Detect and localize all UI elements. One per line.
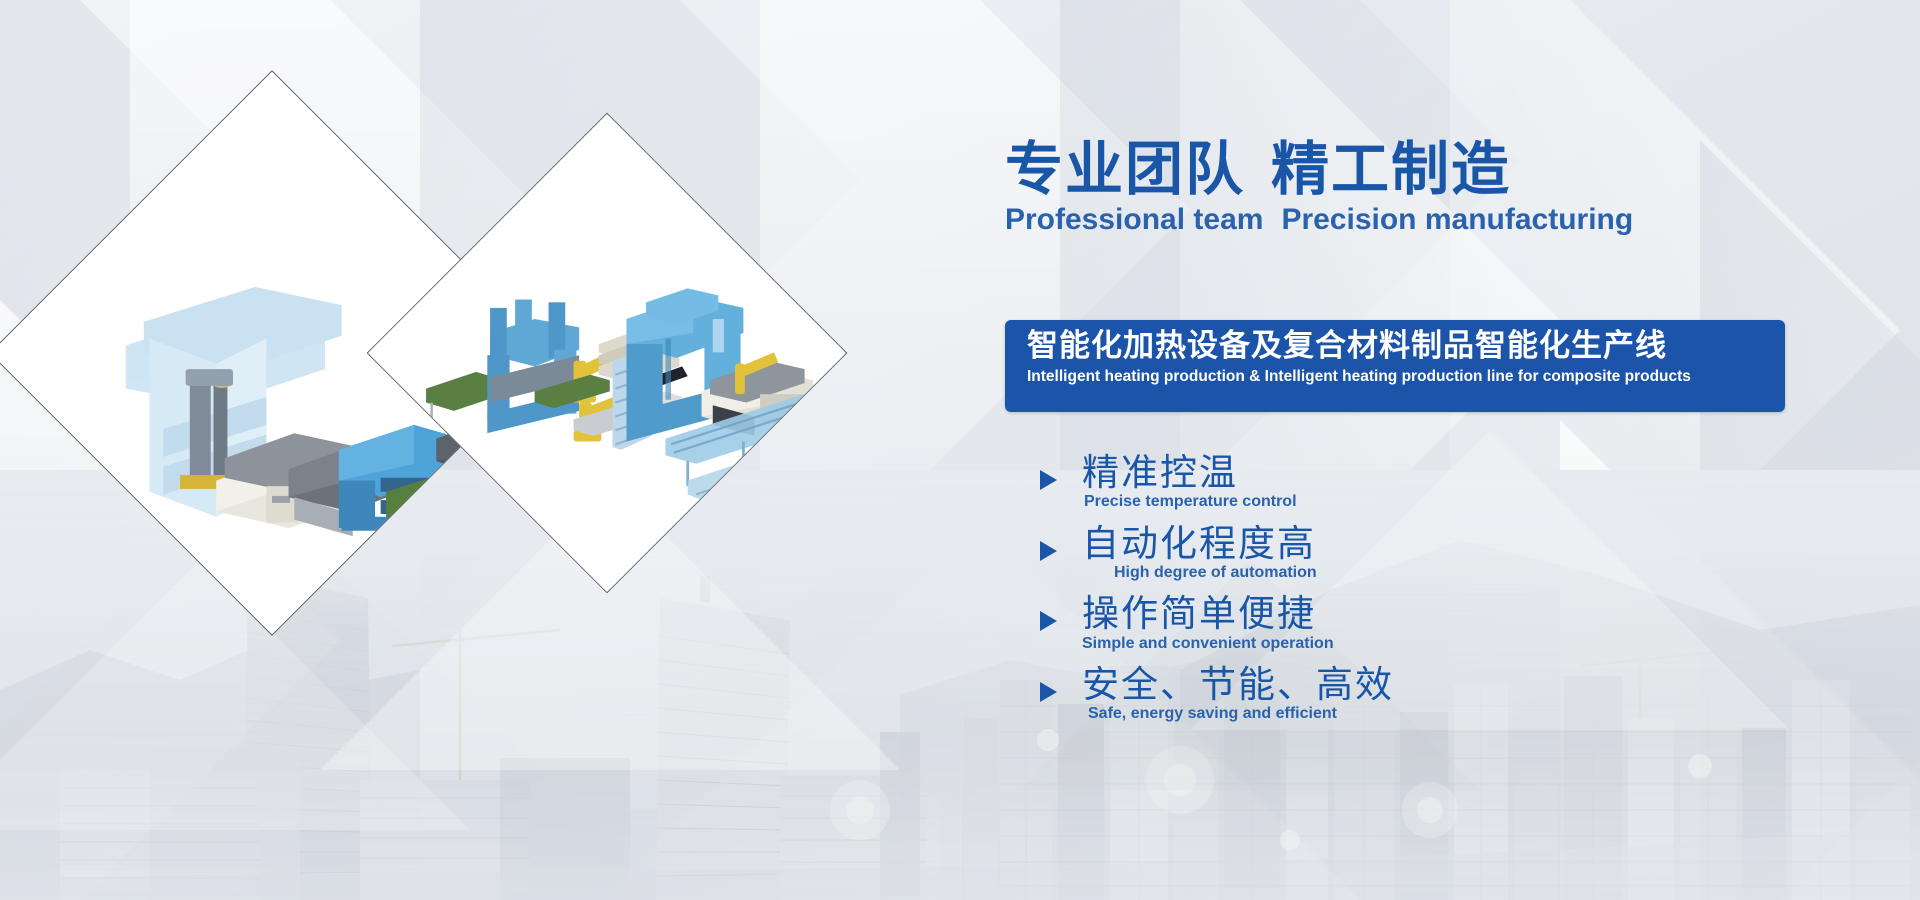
triangle-right-icon — [1038, 468, 1060, 492]
feature-item-1: 精准控温 Precise temperature control — [1038, 452, 1798, 512]
product-title-bar: 智能化加热设备及复合材料制品智能化生产线 Intelligent heating… — [1005, 320, 1785, 412]
headline-english-part1: Professional team — [1005, 203, 1263, 236]
feature-3-english: Simple and convenient operation — [1082, 634, 1798, 653]
triangle-right-icon — [1038, 609, 1060, 633]
feature-2-chinese: 自动化程度高 — [1082, 523, 1798, 564]
triangle-right-icon — [1038, 539, 1060, 563]
product-title-english: Intelligent heating production & Intelli… — [1027, 367, 1769, 387]
feature-4-chinese: 安全、节能、高效 — [1082, 664, 1798, 705]
triangle-right-icon — [1038, 680, 1060, 704]
headline-english-part2: Precision manufacturing — [1281, 203, 1633, 236]
feature-1-chinese: 精准控温 — [1082, 452, 1798, 493]
feature-item-3: 操作简单便捷 Simple and convenient operation — [1038, 593, 1798, 653]
headline-chinese: 专业团队精工制造 — [1005, 140, 1805, 201]
feature-2-english: High degree of automation — [1114, 563, 1798, 582]
feature-item-4: 安全、节能、高效 Safe, energy saving and efficie… — [1038, 664, 1798, 724]
headline-chinese-part2: 精工制造 — [1271, 137, 1511, 202]
headline-english: Professional teamPrecision manufacturing — [1005, 203, 1805, 236]
feature-item-2: 自动化程度高 High degree of automation — [1038, 523, 1798, 583]
feature-1-english: Precise temperature control — [1084, 492, 1798, 511]
product-title-chinese: 智能化加热设备及复合材料制品智能化生产线 — [1027, 327, 1769, 366]
headline-chinese-part1: 专业团队 — [1005, 137, 1245, 202]
feature-4-english: Safe, energy saving and efficient — [1088, 704, 1798, 723]
feature-3-chinese: 操作简单便捷 — [1082, 593, 1798, 634]
hero-banner: 专业团队精工制造 Professional teamPrecision manu… — [0, 0, 1920, 900]
headline-block: 专业团队精工制造 Professional teamPrecision manu… — [1005, 140, 1805, 236]
feature-list: 精准控温 Precise temperature control 自动化程度高 … — [1038, 452, 1798, 735]
